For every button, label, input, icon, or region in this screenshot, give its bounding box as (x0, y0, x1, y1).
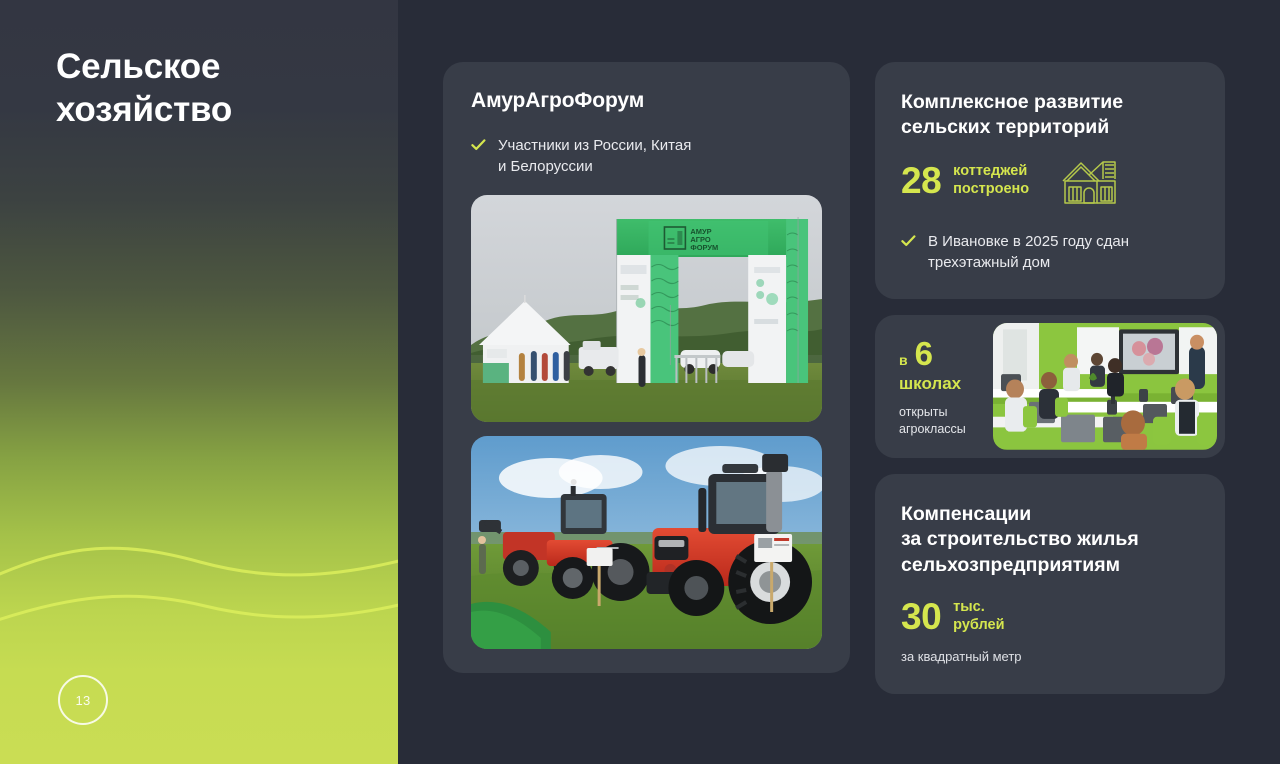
compensation-stat: 30 тыс. рублей (901, 598, 1199, 635)
forum-bullet-text: Участники из России, Китая и Белоруссии (498, 135, 691, 178)
agro-classes-card: в 6 школах открыты агроклассы (875, 315, 1225, 458)
compensation-footnote: за квадратный метр (901, 649, 1199, 664)
rural-note-bullet: В Ивановке в 2025 году сдан трехэтажный … (901, 231, 1199, 274)
schools-subtext: открыты агроклассы (899, 404, 987, 438)
decorative-waves (0, 504, 398, 764)
cottages-number: 28 (901, 162, 941, 199)
rural-development-card: Комплексное развитие сельских территорий… (875, 62, 1225, 299)
schools-count: 6 (915, 337, 933, 370)
forum-column: АмурАгроФорум Участники из России, Китая… (443, 62, 850, 673)
compensation-unit: тыс. рублей (953, 599, 1004, 634)
tractors-photo (471, 436, 822, 649)
slide-root: Сельское хозяйство 13 АмурАгроФорум Учас… (0, 0, 1280, 764)
cottages-stat: 28 коттеджей построено (901, 157, 1199, 205)
schools-count-row: в 6 (899, 337, 987, 370)
page-number-badge: 13 (58, 675, 108, 725)
check-icon (471, 139, 486, 151)
check-icon (901, 235, 916, 247)
forum-bullet: Участники из России, Китая и Белоруссии (471, 135, 822, 178)
agro-classes-stat: в 6 школах открыты агроклассы (875, 315, 993, 458)
compensation-number: 30 (901, 598, 941, 635)
content-area: АмурАгроФорум Участники из России, Китая… (398, 0, 1280, 764)
svg-text:ФОРУМ: ФОРУМ (690, 243, 718, 252)
compensation-card-title: Компенсации за строительство жилья сельх… (901, 502, 1199, 578)
forum-card-title: АмурАгроФорум (471, 88, 822, 115)
page-title: Сельское хозяйство (56, 46, 386, 131)
compensation-card: Компенсации за строительство жилья сельх… (875, 474, 1225, 694)
cottages-unit: коттеджей построено (953, 163, 1029, 198)
exhibition-arch-photo: АМУР АГРО ФОРУМ (471, 195, 822, 422)
rural-card-title: Комплексное развитие сельских территорий (901, 90, 1199, 141)
page-number: 13 (75, 693, 90, 708)
house-icon (1059, 157, 1119, 205)
forum-card: АмурАгроФорум Участники из России, Китая… (443, 62, 850, 673)
schools-word: школах (899, 374, 987, 394)
classroom-photo (993, 323, 1217, 450)
schools-prefix: в (899, 352, 908, 368)
stats-column: Комплексное развитие сельских территорий… (875, 62, 1225, 694)
rural-note-text: В Ивановке в 2025 году сдан трехэтажный … (928, 231, 1129, 274)
left-title-panel: Сельское хозяйство 13 (0, 0, 398, 764)
